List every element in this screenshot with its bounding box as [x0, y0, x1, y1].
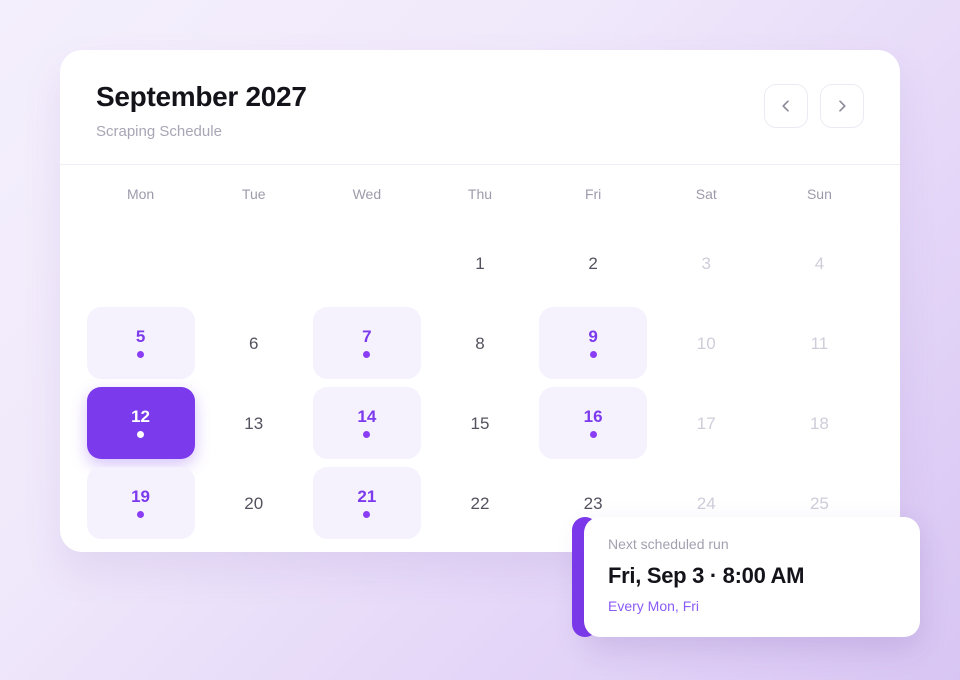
- day-cell: 10: [650, 303, 763, 383]
- weekday-label-sat: Sat: [650, 186, 763, 202]
- day-9[interactable]: 9: [539, 307, 647, 379]
- day-14[interactable]: 14: [313, 387, 421, 459]
- day-number: 21: [357, 488, 376, 505]
- day-4[interactable]: 4: [765, 227, 873, 299]
- day-cell: 13: [197, 383, 310, 463]
- day-number: 15: [471, 415, 490, 432]
- day-cell: 20: [197, 463, 310, 543]
- day-2[interactable]: 2: [539, 227, 647, 299]
- day-7[interactable]: 7: [313, 307, 421, 379]
- day-number: 5: [136, 328, 145, 345]
- day-number: 1: [475, 255, 484, 272]
- scheduled-run-dot: [590, 351, 597, 358]
- scheduled-run-dot: [363, 431, 370, 438]
- day-number: 4: [815, 255, 824, 272]
- day-cell: [197, 223, 310, 303]
- day-6[interactable]: 6: [200, 307, 308, 379]
- calendar-card: September 2027 Scraping Schedule: [60, 50, 900, 552]
- day-number: 17: [697, 415, 716, 432]
- day-number: 12: [131, 408, 150, 425]
- day-cell: 11: [763, 303, 876, 383]
- day-10[interactable]: 10: [652, 307, 760, 379]
- callout-recurrence: Every Mon, Fri: [608, 599, 896, 613]
- callout-label: Next scheduled run: [608, 537, 896, 551]
- day-cell: 4: [763, 223, 876, 303]
- weekday-label-thu: Thu: [423, 186, 536, 202]
- page-subtitle: Scraping Schedule: [96, 123, 307, 140]
- scheduled-run-dot: [363, 351, 370, 358]
- day-number: 7: [362, 328, 371, 345]
- page-title: September 2027: [96, 82, 307, 113]
- callout-datetime: Fri, Sep 3 · 8:00 AM: [608, 564, 896, 588]
- day-17[interactable]: 17: [652, 387, 760, 459]
- day-cell: 17: [650, 383, 763, 463]
- day-cell: 3: [650, 223, 763, 303]
- day-number: 20: [244, 495, 263, 512]
- title-block: September 2027 Scraping Schedule: [96, 80, 307, 140]
- day-cell: 2: [537, 223, 650, 303]
- day-16[interactable]: 16: [539, 387, 647, 459]
- chevron-left-icon: [778, 98, 794, 114]
- day-13[interactable]: 13: [200, 387, 308, 459]
- day-empty: [87, 227, 195, 299]
- scheduled-run-dot: [137, 351, 144, 358]
- prev-month-button[interactable]: [764, 84, 808, 128]
- day-cell: 1: [423, 223, 536, 303]
- weekday-label-sun: Sun: [763, 186, 876, 202]
- day-cell: 21: [310, 463, 423, 543]
- day-number: 6: [249, 335, 258, 352]
- day-cell: 15: [423, 383, 536, 463]
- day-number: 3: [702, 255, 711, 272]
- day-cell: 8: [423, 303, 536, 383]
- day-cell: 5: [84, 303, 197, 383]
- day-number: 2: [588, 255, 597, 272]
- scheduled-run-dot: [590, 431, 597, 438]
- week-row: 567891011: [84, 303, 876, 383]
- day-number: 14: [357, 408, 376, 425]
- scheduled-run-dot: [137, 431, 144, 438]
- day-19[interactable]: 19: [87, 467, 195, 539]
- next-month-button[interactable]: [820, 84, 864, 128]
- day-cell: 22: [423, 463, 536, 543]
- week-row: 12131415161718: [84, 383, 876, 463]
- day-number: 10: [697, 335, 716, 352]
- day-cell: [84, 223, 197, 303]
- day-cell: 6: [197, 303, 310, 383]
- day-number: 25: [810, 495, 829, 512]
- weekday-label-mon: Mon: [84, 186, 197, 202]
- week-row: 1234: [84, 223, 876, 303]
- day-number: 19: [131, 488, 150, 505]
- chevron-right-icon: [834, 98, 850, 114]
- weekday-header-row: Mon Tue Wed Thu Fri Sat Sun: [60, 165, 900, 223]
- day-empty: [200, 227, 308, 299]
- day-number: 22: [471, 495, 490, 512]
- day-18[interactable]: 18: [765, 387, 873, 459]
- month-nav: [764, 80, 864, 128]
- day-cell: 18: [763, 383, 876, 463]
- day-number: 11: [811, 335, 829, 352]
- day-21[interactable]: 21: [313, 467, 421, 539]
- day-number: 13: [244, 415, 263, 432]
- day-11[interactable]: 11: [765, 307, 873, 379]
- day-cell: 9: [537, 303, 650, 383]
- weekday-label-wed: Wed: [310, 186, 423, 202]
- day-grid: 1234567891011121314151617181920212223242…: [60, 223, 900, 543]
- scheduled-run-dot: [137, 511, 144, 518]
- weekday-label-tue: Tue: [197, 186, 310, 202]
- callout-card[interactable]: Next scheduled run Fri, Sep 3 · 8:00 AM …: [584, 517, 920, 637]
- day-cell: 12: [84, 383, 197, 463]
- day-empty: [313, 227, 421, 299]
- day-8[interactable]: 8: [426, 307, 534, 379]
- day-20[interactable]: 20: [200, 467, 308, 539]
- day-1[interactable]: 1: [426, 227, 534, 299]
- day-number: 16: [584, 408, 603, 425]
- day-cell: [310, 223, 423, 303]
- weekday-label-fri: Fri: [537, 186, 650, 202]
- calendar-header: September 2027 Scraping Schedule: [60, 50, 900, 165]
- day-number: 23: [584, 495, 603, 512]
- day-cell: 16: [537, 383, 650, 463]
- day-cell: 7: [310, 303, 423, 383]
- day-cell: 14: [310, 383, 423, 463]
- scheduled-run-dot: [363, 511, 370, 518]
- day-22[interactable]: 22: [426, 467, 534, 539]
- day-number: 9: [588, 328, 597, 345]
- next-run-callout: Next scheduled run Fri, Sep 3 · 8:00 AM …: [572, 517, 920, 637]
- day-number: 24: [697, 495, 716, 512]
- day-number: 18: [810, 415, 829, 432]
- day-number: 8: [475, 335, 484, 352]
- day-cell: 19: [84, 463, 197, 543]
- day-15[interactable]: 15: [426, 387, 534, 459]
- day-3[interactable]: 3: [652, 227, 760, 299]
- day-12[interactable]: 12: [87, 387, 195, 459]
- day-5[interactable]: 5: [87, 307, 195, 379]
